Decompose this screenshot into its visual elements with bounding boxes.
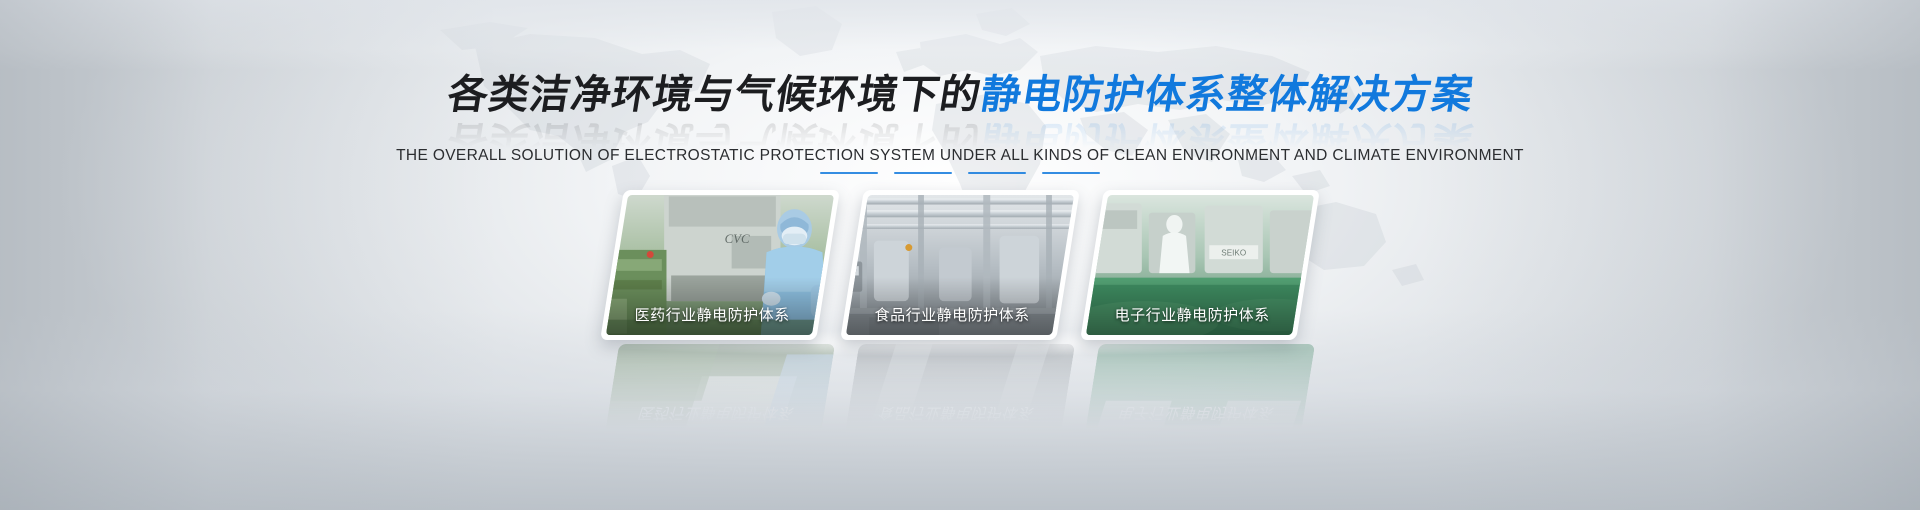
headline: 各类洁净环境与气候环境下的静电防护体系整体解决方案 <box>0 74 1920 117</box>
divider-tick-2 <box>894 172 952 174</box>
divider-tick-1 <box>820 172 878 174</box>
svg-text:SEIKO: SEIKO <box>1221 249 1246 258</box>
card-pharmaceutical[interactable]: CVC <box>600 190 840 340</box>
card-reflection-caption-electronics: 电子行业静电防护体系 <box>1085 403 1308 424</box>
industry-cards: CVC <box>612 190 1308 340</box>
top-gradient-band <box>0 0 1920 70</box>
card-reflection-electronics: 电子行业静电防护体系 <box>1085 344 1315 434</box>
card-electronics[interactable]: SEIKO 电子行业静电防护体系 <box>1080 190 1320 340</box>
divider-tick-3 <box>968 172 1026 174</box>
electronics-smt-line-photo-reflection <box>1085 344 1315 434</box>
svg-text:CVC: CVC <box>725 232 750 246</box>
card-reflection-pharmaceutical: 医药行业静电防护体系 <box>605 344 835 434</box>
floor-gradient-band <box>0 310 1920 510</box>
headline-dark-text: 各类洁净环境与气候环境下的 <box>444 73 984 117</box>
card-reflection-food: 食品行业静电防护体系 <box>845 344 1075 434</box>
card-reflection-caption-food: 食品行业静电防护体系 <box>845 403 1068 424</box>
cards-reflection: 医药行业静电防护体系 食品行业静电防护体系 <box>612 344 1308 434</box>
divider-tick-4 <box>1042 172 1100 174</box>
card-food[interactable]: 食品行业静电防护体系 <box>840 190 1080 340</box>
pharmaceutical-cleanroom-photo-reflection <box>605 344 835 434</box>
card-caption-food: 食品行业静电防护体系 <box>849 304 1055 325</box>
divider <box>820 172 1100 174</box>
food-factory-pipes-photo-reflection <box>845 344 1075 434</box>
card-caption-electronics: 电子行业静电防护体系 <box>1089 304 1295 325</box>
headline-blue-text: 静电防护体系整体解决方案 <box>977 73 1476 117</box>
card-reflection-caption-pharmaceutical: 医药行业静电防护体系 <box>605 403 828 424</box>
card-caption-pharmaceutical: 医药行业静电防护体系 <box>609 304 815 325</box>
subheadline: THE OVERALL SOLUTION OF ELECTROSTATIC PR… <box>0 147 1920 165</box>
hero-banner: 各类洁净环境与气候环境下的静电防护体系整体解决方案 各类洁净环境与气候环境下的静… <box>0 0 1920 510</box>
